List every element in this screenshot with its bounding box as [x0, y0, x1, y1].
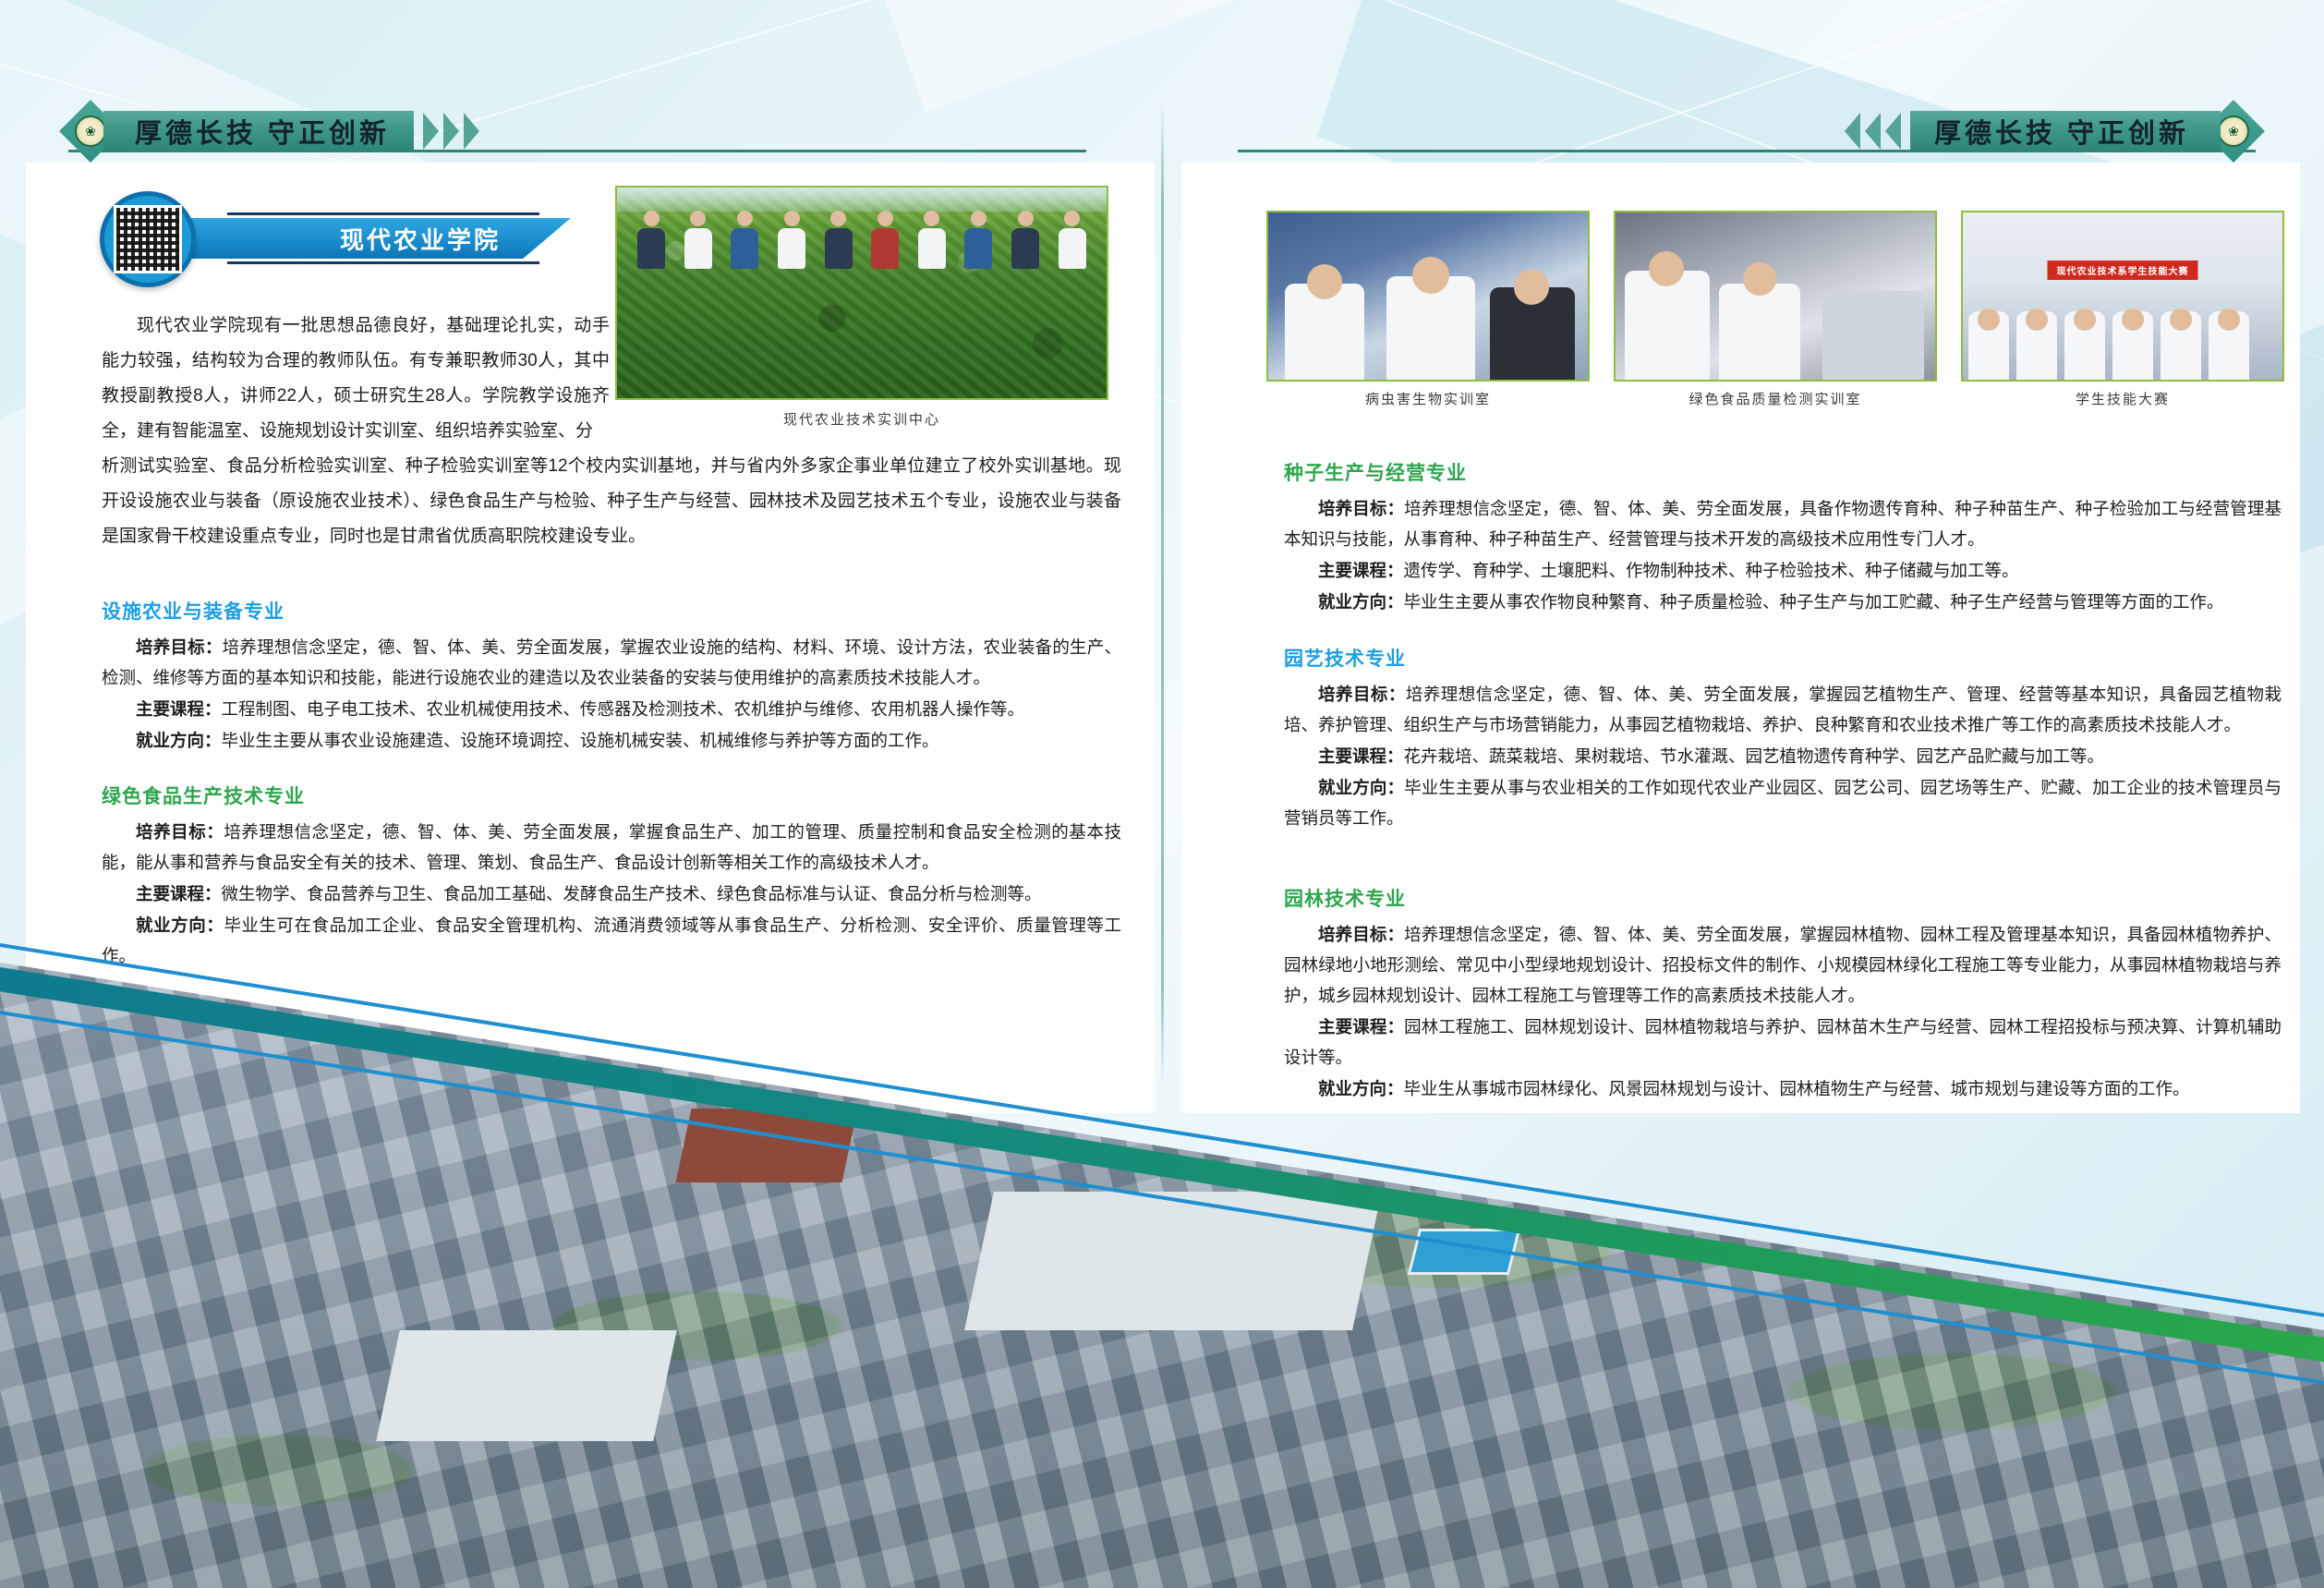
people-row — [617, 197, 1107, 269]
department-title-bar: 现代农业学院 — [172, 218, 571, 259]
title-rule-top — [227, 212, 539, 215]
program-goal: 培养目标：培养理想信念坚定，德、智、体、美、劳全面发展，掌握食品生产、加工的管理… — [102, 817, 1121, 878]
contest-banner-text: 现代农业技术系学生技能大赛 — [2048, 261, 2198, 280]
chevron-group-left — [423, 113, 479, 150]
program-courses: 主要课程：花卉栽培、蔬菜栽培、果树栽培、节水灌溉、园艺植物遗传育种学、园艺产品贮… — [1284, 741, 2282, 771]
person-figure — [637, 211, 665, 269]
label-courses: 主要课程： — [1318, 561, 1404, 580]
goal-text: 培养理想信念坚定，德、智、体、美、劳全面发展，掌握食品生产、加工的管理、质量控制… — [102, 822, 1121, 872]
label-courses: 主要课程： — [136, 884, 222, 903]
program-goal: 培养目标：培养理想信念坚定，德、智、体、美、劳全面发展，掌握园艺植物生产、管理、… — [1284, 679, 2282, 740]
photo-caption-2: 绿色食品质量检测实训室 — [1614, 389, 1937, 408]
photo-pest-biology-lab — [1266, 211, 1590, 382]
program-courses: 主要课程：工程制图、电子电工技术、农业机械使用技术、传感器及检测技术、农机维护与… — [102, 694, 1121, 724]
program-career: 就业方向：毕业生主要从事农作物良种繁育、种子质量检验、种子生产与加工贮藏、种子生… — [1284, 587, 2282, 617]
lab-equipment — [1822, 291, 1924, 380]
page-gutter-divider — [1161, 103, 1164, 1083]
program-courses: 主要课程：微生物学、食品营养与卫生、食品加工基础、发酵食品生产技术、绿色食品标准… — [102, 879, 1121, 909]
program-courses: 主要课程：园林工程施工、园林规划设计、园林植物栽培与养护、园林苗木生产与经营、园… — [1284, 1012, 2282, 1073]
chevron-right-icon — [443, 113, 459, 150]
chevron-left-icon — [1885, 113, 1901, 150]
program-title: 设施农业与装备专业 — [102, 597, 1121, 624]
courses-text: 微生物学、食品营养与卫生、食品加工基础、发酵食品生产技术、绿色食品标准与认证、食… — [222, 884, 1042, 903]
title-rule-bottom — [227, 261, 539, 264]
person-figure — [731, 211, 758, 269]
program-goal: 培养目标：培养理想信念坚定，德、智、体、美、劳全面发展，掌握农业设施的结构、材料… — [102, 632, 1121, 693]
program-section-facility-agriculture: 设施农业与装备专业 培养目标：培养理想信念坚定，德、智、体、美、劳全面发展，掌握… — [102, 597, 1121, 757]
person-figure — [871, 211, 899, 269]
motto-bar-right: 厚德长技 守正创新 — [1910, 111, 2221, 152]
photo-caption-1: 病虫害生物实训室 — [1266, 389, 1590, 408]
program-courses: 主要课程：遗传学、育种学、土壤肥料、作物制种技术、种子检验技术、种子储藏与加工等… — [1284, 555, 2282, 586]
label-courses: 主要课程： — [1318, 746, 1404, 766]
person-face — [1978, 309, 2000, 331]
program-career: 就业方向：毕业生主要从事农业设施建造、设施环境调控、设施机械安装、机械维修与养护… — [102, 725, 1121, 756]
label-career: 就业方向： — [1318, 778, 1404, 797]
motto-text-left: 厚德长技 守正创新 — [135, 112, 390, 151]
lab-coat — [1719, 284, 1800, 380]
person-figure — [964, 211, 992, 269]
label-goal: 培养目标： — [1318, 685, 1406, 704]
label-goal: 培养目标： — [1318, 499, 1404, 518]
program-career: 就业方向：毕业生从事城市园林绿化、风景园林规划与设计、园林植物生产与经营、城市规… — [1284, 1073, 2282, 1104]
building-roof — [964, 1192, 1382, 1330]
program-title: 园艺技术专业 — [1284, 644, 2282, 672]
motto-text-right: 厚德长技 守正创新 — [1934, 112, 2189, 151]
hero-photo-caption: 现代农业技术实训中心 — [615, 409, 1108, 429]
program-title: 绿色食品生产技术专业 — [102, 782, 1121, 809]
chevron-right-icon — [423, 113, 439, 150]
career-text: 毕业生主要从事与农业相关的工作如现代农业产业园区、园艺公司、园艺场等生产、贮藏、… — [1284, 778, 2282, 828]
chevron-left-icon — [1845, 113, 1860, 150]
photo-caption-3: 学生技能大赛 — [1961, 389, 2284, 408]
person-face — [1514, 270, 1549, 305]
label-career: 就业方向： — [1318, 1079, 1404, 1098]
label-goal: 培养目标： — [1318, 925, 1404, 944]
goal-text: 培养理想信念坚定，德、智、体、美、劳全面发展，具备作物遗传育种、种子种苗生产、种… — [1284, 499, 2282, 549]
department-title-block: 现代农业学院 — [172, 211, 571, 266]
goal-text: 培养理想信念坚定，德、智、体、美、劳全面发展，掌握园林植物、园林工程及管理基本知… — [1284, 925, 2282, 1005]
program-goal: 培养目标：培养理想信念坚定，德、智、体、美、劳全面发展，具备作物遗传育种、种子种… — [1284, 493, 2282, 554]
person-figure — [684, 211, 712, 269]
person-face — [2218, 309, 2240, 331]
person-face — [2074, 309, 2096, 331]
photo-green-food-quality-lab — [1614, 211, 1937, 382]
building-roof — [376, 1330, 677, 1441]
person-face — [1649, 251, 1684, 286]
label-goal: 培养目标： — [136, 822, 224, 842]
person-figure — [1011, 211, 1039, 269]
intro-paragraph-part1: 现代农业学院现有一批思想品德良好，基础理论扎实，动手能力较强，结构较为合理的教师… — [102, 309, 610, 449]
emblem-seal-glyph: ❀ — [75, 115, 106, 147]
person-face — [1412, 257, 1449, 294]
courses-text: 遗传学、育种学、土壤肥料、作物制种技术、种子检验技术、种子储藏与加工等。 — [1404, 561, 2019, 580]
chevron-left-icon — [1865, 113, 1881, 150]
person-face — [1307, 264, 1342, 299]
person-figure — [825, 211, 853, 269]
person-figure — [778, 211, 805, 269]
career-text: 毕业生主要从事农业设施建造、设施环境调控、设施机械安装、机械维修与养护等方面的工… — [222, 731, 939, 750]
label-career: 就业方向： — [136, 915, 224, 935]
header-banner-left: ❀ 厚德长技 守正创新 — [68, 109, 479, 153]
label-courses: 主要课程： — [136, 699, 222, 719]
label-courses: 主要课程： — [1318, 1017, 1404, 1036]
qr-code-icon — [114, 205, 182, 273]
program-title: 种子生产与经营专业 — [1284, 458, 2282, 486]
goal-text: 培养理想信念坚定，德、智、体、美、劳全面发展，掌握农业设施的结构、材料、环境、设… — [102, 637, 1121, 687]
chevron-right-icon — [464, 113, 479, 150]
page-title: 现代农业学院 — [340, 222, 501, 256]
qr-code-badge[interactable] — [100, 191, 196, 287]
courses-text: 花卉栽培、蔬菜栽培、果树栽培、节水灌溉、园艺植物遗传育种学、园艺产品贮藏与加工等… — [1404, 746, 2105, 766]
intro-paragraph-part2: 析测试实验室、食品分析检验实训室、种子检验实训室等12个校内实训基地，并与省内外… — [102, 449, 1121, 554]
person-figure — [1059, 211, 1086, 269]
hero-photo-greenhouse — [615, 186, 1108, 400]
person-face — [2026, 309, 2048, 331]
label-career: 就业方向： — [1318, 592, 1404, 612]
emblem-seal-glyph: ❀ — [2218, 115, 2249, 147]
program-section-landscape: 园林技术专业 培养目标：培养理想信念坚定，德、智、体、美、劳全面发展，掌握园林植… — [1284, 884, 2282, 1105]
courses-text: 工程制图、电子电工技术、农业机械使用技术、传感器及检测技术、农机维护与维修、农用… — [222, 699, 1025, 719]
person-figure — [918, 211, 946, 269]
career-text: 毕业生主要从事农作物良种繁育、种子质量检验、种子生产与加工贮藏、种子生产经营与管… — [1404, 592, 2224, 612]
courses-text: 园林工程施工、园林规划设计、园林植物栽培与养护、园林苗木生产与经营、园林工程招投… — [1284, 1017, 2282, 1067]
header-banner-right: ❀ 厚德长技 守正创新 — [1845, 109, 2256, 153]
program-career: 就业方向：毕业生可在食品加工企业、食品安全管理机构、流通消费领域等从事食品生产、… — [102, 910, 1121, 971]
label-career: 就业方向： — [136, 731, 222, 750]
goal-text: 培养理想信念坚定，德、智、体、美、劳全面发展，掌握园艺植物生产、管理、经营等基本… — [1284, 685, 2282, 734]
career-text: 毕业生可在食品加工企业、食品安全管理机构、流通消费领域等从事食品生产、分析检测、… — [102, 915, 1121, 965]
program-section-horticulture: 园艺技术专业 培养目标：培养理想信念坚定，德、智、体、美、劳全面发展，掌握园艺植… — [1284, 644, 2282, 834]
program-title: 园林技术专业 — [1284, 884, 2282, 912]
program-career: 就业方向：毕业生主要从事与农业相关的工作如现代农业产业园区、园艺公司、园艺场等生… — [1284, 772, 2282, 833]
qr-code-pattern — [116, 208, 179, 271]
program-section-seed-production: 种子生产与经营专业 培养目标：培养理想信念坚定，德、智、体、美、劳全面发展，具备… — [1284, 458, 2282, 618]
label-goal: 培养目标： — [136, 637, 223, 657]
career-text: 毕业生从事城市园林绿化、风景园林规划与设计、园林植物生产与经营、城市规划与建设等… — [1404, 1079, 2190, 1098]
person-face — [2170, 309, 2192, 331]
person-face — [2122, 309, 2144, 331]
brochure-page: ❀ 厚德长技 守正创新 ❀ 厚德长技 守正创新 — [0, 0, 2324, 1588]
program-section-green-food: 绿色食品生产技术专业 培养目标：培养理想信念坚定，德、智、体、美、劳全面发展，掌… — [102, 782, 1121, 972]
person-face — [1743, 262, 1776, 296]
chevron-group-right — [1845, 113, 1901, 150]
program-goal: 培养目标：培养理想信念坚定，德、智、体、美、劳全面发展，掌握园林植物、园林工程及… — [1284, 919, 2282, 1011]
lab-coat — [1625, 271, 1710, 380]
motto-bar-left: 厚德长技 守正创新 — [103, 111, 414, 152]
photo-student-skills-contest: 现代农业技术系学生技能大赛 — [1961, 211, 2284, 382]
